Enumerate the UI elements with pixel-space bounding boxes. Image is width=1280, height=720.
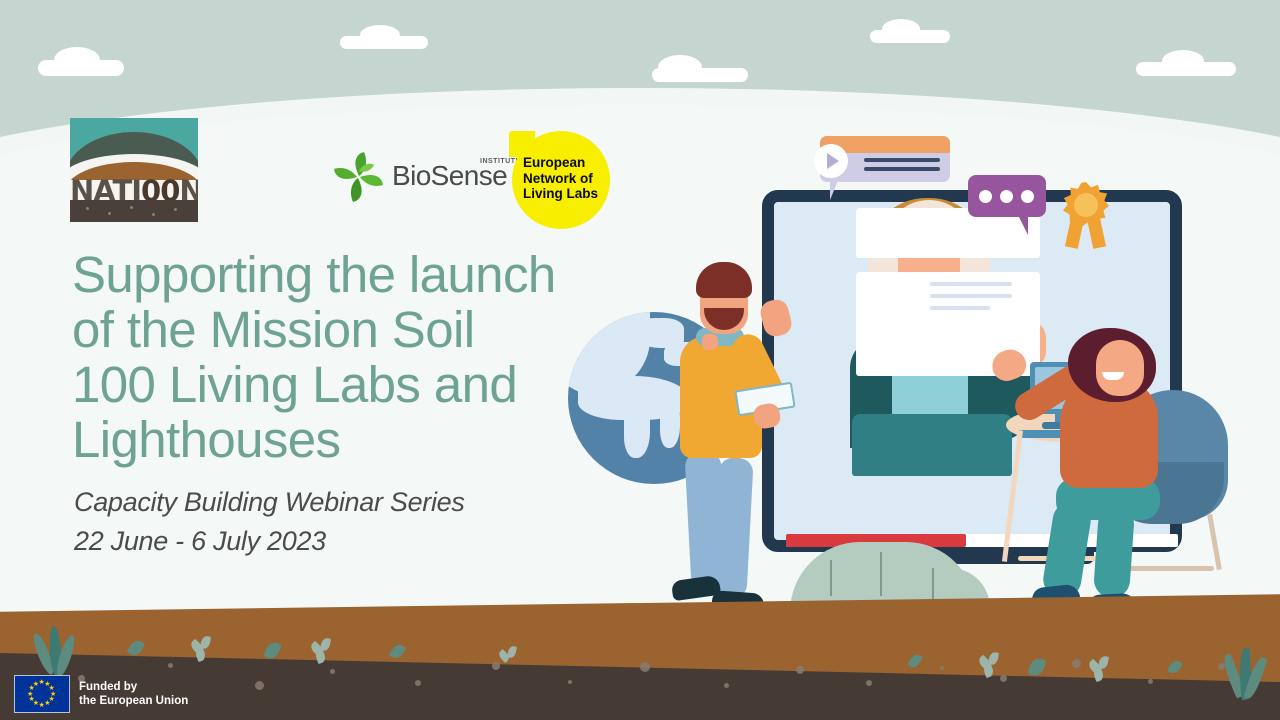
video-player-bubble [820,136,950,182]
nations-logo: NATI00NS [70,118,198,222]
enoll-logo-text: European Network of Living Labs [523,155,603,202]
subtitle-line: Capacity Building Webinar Series [74,483,694,522]
cloud-icon [1136,62,1236,76]
attendee-leg-lower [1093,505,1135,599]
panel-text-line [930,282,1012,286]
play-icon[interactable] [814,144,848,178]
cloud-icon [870,30,950,43]
host-laptop [852,414,1012,476]
cloud-icon [340,36,428,49]
man-pointing-hand [758,297,794,339]
panel-text-line [930,306,990,310]
man-hair [696,262,752,298]
man-hand-holding [752,402,781,430]
biosense-leaves-icon [330,152,388,204]
eu-flag-icon: ★★★★★★★★★★★★ [14,675,70,713]
biosense-logo: BioSense INSTITUTE [330,152,495,204]
man-leg-right [712,457,753,599]
page-subtitle: Capacity Building Webinar Series 22 June… [74,483,694,561]
eu-star-icon: ★ [39,702,45,709]
attendee-face [1096,340,1144,396]
cloud-icon [652,68,748,82]
eu-star-icon: ★ [44,700,50,707]
eu-star-icon: ★ [33,681,39,688]
webinar-banner: NATI00NS BioSense INSTITUTE European Net… [0,0,1280,720]
title-line: Lighthouses [72,412,672,467]
bubble-tail [1018,215,1028,235]
panel-text-line [930,294,1012,298]
cloud-icon [38,60,124,76]
title-line: Supporting the launch [72,247,672,302]
chat-dots-bubble [968,175,1046,217]
page-title: Supporting the launch of the Mission Soi… [72,247,672,467]
title-line: 100 Living Labs and [72,357,672,412]
title-line: of the Mission Soil [72,302,672,357]
eu-funding-block: ★★★★★★★★★★★★ Funded by the European Unio… [14,675,188,713]
eu-funding-text: Funded by the European Union [79,680,188,708]
award-rosette-icon [1060,182,1112,260]
man-neck [702,334,718,350]
subtitle-line: 22 June - 6 July 2023 [74,522,694,561]
bubble-tail [830,178,839,200]
